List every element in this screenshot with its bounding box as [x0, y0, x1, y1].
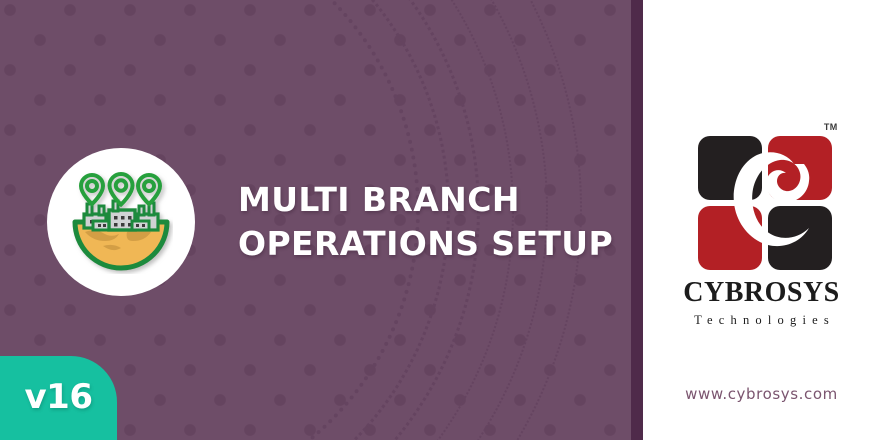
- website-url[interactable]: www.cybrosys.com: [643, 385, 880, 403]
- banner-title: MULTI BRANCH OPERATIONS SETUP: [238, 178, 618, 266]
- brand-subtitle: Technologies: [688, 314, 835, 327]
- brand-logo-block: TM CYBROSYS Technologies: [643, 118, 880, 327]
- cybrosys-logo-icon: [684, 118, 840, 276]
- divider-stripe: [631, 0, 643, 440]
- cybrosys-logo-mark: TM: [684, 118, 840, 276]
- version-label: v16: [25, 377, 93, 419]
- promo-banner: MULTI BRANCH OPERATIONS SETUP v16: [0, 0, 880, 440]
- left-purple-panel: MULTI BRANCH OPERATIONS SETUP v16: [0, 0, 632, 440]
- title-line-2: OPERATIONS SETUP: [238, 222, 618, 266]
- title-line-1: MULTI BRANCH: [238, 178, 618, 222]
- version-badge: v16: [0, 356, 117, 440]
- trademark-icon: TM: [824, 122, 838, 132]
- feature-icon-circle: [47, 148, 195, 296]
- multi-branch-globe-icon: [69, 170, 173, 274]
- brand-name: CYBROSYS: [683, 279, 839, 307]
- right-white-panel: TM CYBROSYS Technologies www.cybrosys.co…: [643, 0, 880, 440]
